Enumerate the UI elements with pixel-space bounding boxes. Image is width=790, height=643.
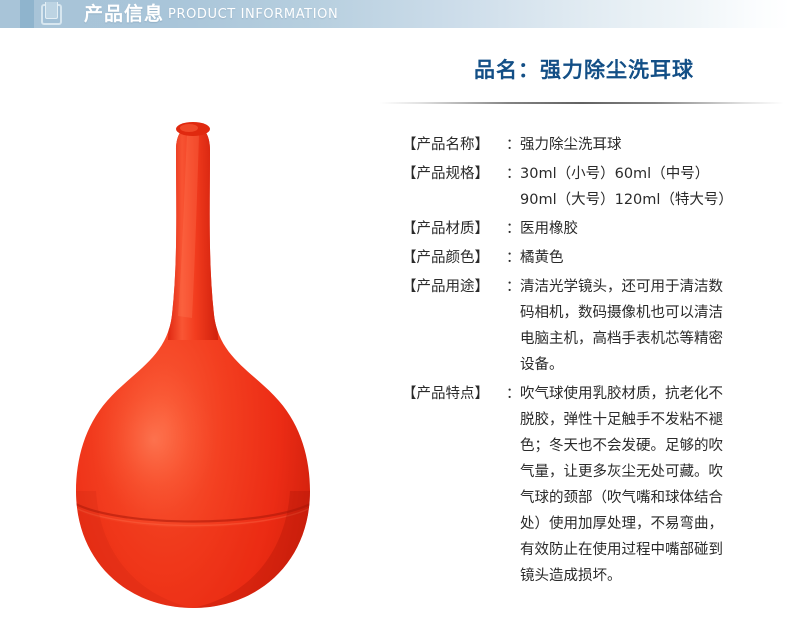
spec-value-line: 处）使用加厚处理，不易弯曲， <box>520 511 772 537</box>
spec-label: 【产品材质】 <box>402 216 506 242</box>
spec-value-line: 电脑主机，高档手表机芯等精密 <box>520 326 772 352</box>
spec-value-line: 脱胶，弹性十足触手不发粘不褪 <box>520 407 772 433</box>
spec-label: 【产品规格】 <box>402 161 506 187</box>
header-accent-block <box>20 0 34 28</box>
spec-row: 【产品材质】 ： 医用橡胶 <box>402 216 772 242</box>
spec-value-line: 30ml（小号）60ml（中号） <box>520 161 772 187</box>
header-title-english: PRODUCT INFORMATION <box>168 6 338 24</box>
product-info-panel: 品名：强力除尘洗耳球 【产品名称】 ： 强力除尘洗耳球 【产品规格】 ： 30m… <box>378 40 790 640</box>
spec-value: 橘黄色 <box>520 245 772 271</box>
spec-value: 30ml（小号）60ml（中号） 90ml（大号）120ml（特大号） <box>520 161 772 213</box>
header-title-chinese: 产品信息 <box>84 2 164 27</box>
spec-colon: ： <box>506 381 520 407</box>
spec-value-line: 90ml（大号）120ml（特大号） <box>520 187 772 213</box>
spec-value-line: 码相机，数码摄像机也可以清洁 <box>520 300 772 326</box>
spec-value-line: 清洁光学镜头，还可用于清洁数 <box>520 274 772 300</box>
specification-list: 【产品名称】 ： 强力除尘洗耳球 【产品规格】 ： 30ml（小号）60ml（中… <box>402 132 772 592</box>
spec-colon: ： <box>506 245 520 271</box>
spec-value: 清洁光学镜头，还可用于清洁数 码相机，数码摄像机也可以清洁 电脑主机，高档手表机… <box>520 274 772 378</box>
spec-colon: ： <box>506 216 520 242</box>
spec-label: 【产品特点】 <box>402 381 506 407</box>
spec-value-line: 镜头造成损坏。 <box>520 563 772 589</box>
spec-colon: ： <box>506 132 520 158</box>
spec-value-line: 气球的颈部（吹气嘴和球体结合 <box>520 485 772 511</box>
spec-value: 强力除尘洗耳球 <box>520 132 772 158</box>
spec-value-line: 有效防止在使用过程中嘴部碰到 <box>520 537 772 563</box>
spec-value: 吹气球使用乳胶材质，抗老化不 脱胶，弹性十足触手不发粘不褪 色；冬天也不会发硬。… <box>520 381 772 589</box>
bulb-gloss-highlight <box>92 362 216 518</box>
spec-value-line: 橘黄色 <box>520 245 772 271</box>
spec-row: 【产品颜色】 ： 橘黄色 <box>402 245 772 271</box>
spec-value-line: 强力除尘洗耳球 <box>520 132 772 158</box>
product-image-ear-wash-bulb <box>58 110 328 620</box>
spec-label: 【产品颜色】 <box>402 245 506 271</box>
page-title: 品名：强力除尘洗耳球 <box>378 54 790 84</box>
spec-colon: ： <box>506 274 520 300</box>
spec-value-line: 色；冬天也不会发硬。足够的吹 <box>520 433 772 459</box>
spec-label: 【产品名称】 <box>402 132 506 158</box>
spec-value-line: 医用橡胶 <box>520 216 772 242</box>
document-card-icon <box>41 4 62 25</box>
spec-colon: ： <box>506 161 520 187</box>
spec-row: 【产品特点】 ： 吹气球使用乳胶材质，抗老化不 脱胶，弹性十足触手不发粘不褪 色… <box>402 381 772 589</box>
page-header: 产品信息 PRODUCT INFORMATION <box>0 0 790 28</box>
spec-row: 【产品规格】 ： 30ml（小号）60ml（中号） 90ml（大号）120ml（… <box>402 161 772 213</box>
product-photo-panel <box>0 40 375 640</box>
spec-value: 医用橡胶 <box>520 216 772 242</box>
spec-row: 【产品名称】 ： 强力除尘洗耳球 <box>402 132 772 158</box>
spec-row: 【产品用途】 ： 清洁光学镜头，还可用于清洁数 码相机，数码摄像机也可以清洁 电… <box>402 274 772 378</box>
spec-value-line: 气量，让更多灰尘无处可藏。吹 <box>520 459 772 485</box>
icon-inner-page <box>45 2 58 19</box>
bulb-tip-highlight <box>180 124 198 132</box>
spec-value-line: 吹气球使用乳胶材质，抗老化不 <box>520 381 772 407</box>
spec-value-line: 设备。 <box>520 352 772 378</box>
title-divider <box>380 102 784 104</box>
spec-label: 【产品用途】 <box>402 274 506 300</box>
